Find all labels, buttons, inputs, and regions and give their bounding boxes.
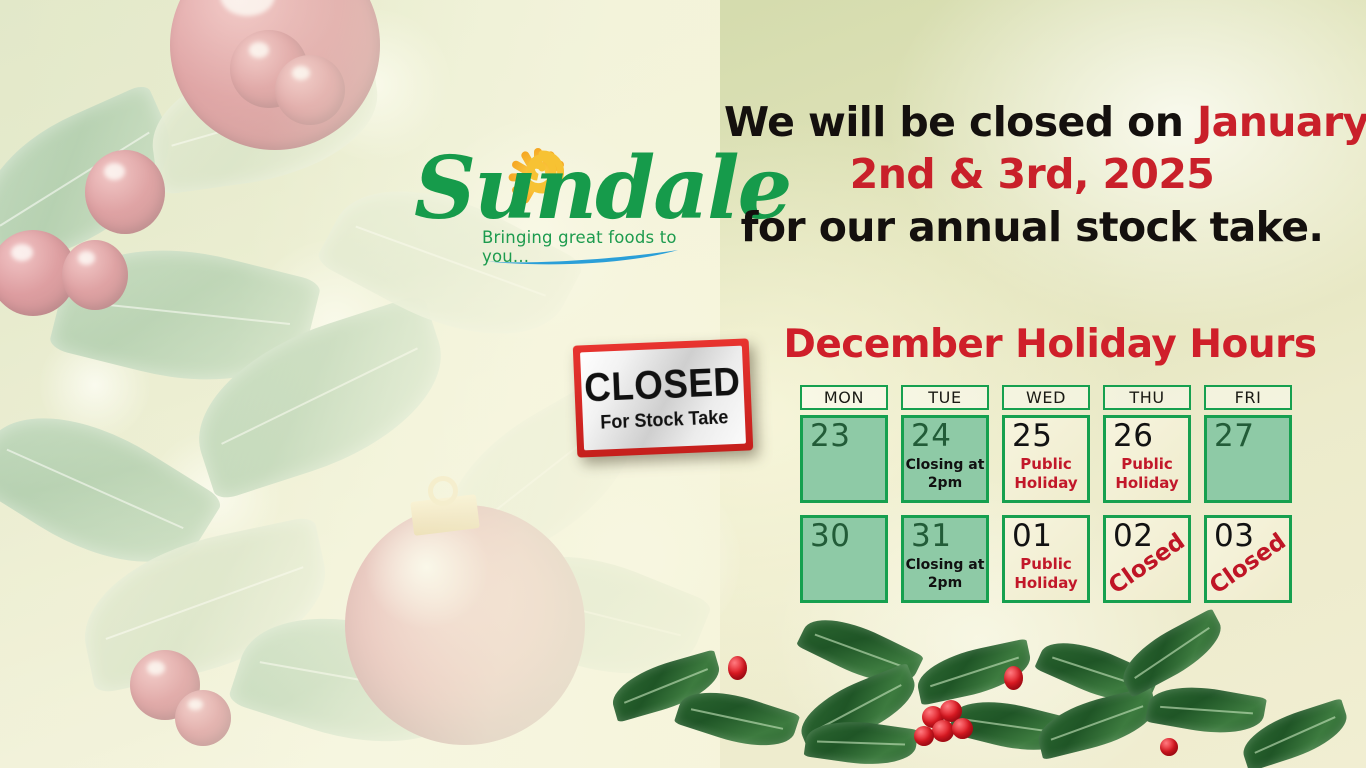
day-note: Closing at 2pm — [904, 457, 986, 493]
poster-canvas: Sundale Bringing great foods to you... W… — [0, 0, 1366, 768]
day-note: Public Holiday — [1005, 555, 1087, 593]
calendar-day-cell: 31 Closing at 2pm — [901, 515, 989, 603]
swoosh-icon — [482, 248, 682, 266]
ornament-bauble — [345, 505, 585, 745]
day-note: Closing at 2pm — [904, 557, 986, 593]
day-header-thu: THU — [1103, 385, 1191, 410]
day-number: 30 — [810, 519, 850, 553]
day-number: 27 — [1214, 419, 1254, 453]
closed-for-stock-take-sign: CLOSED For Stock Take — [573, 338, 754, 457]
calendar-title: December Holiday Hours — [770, 325, 1330, 364]
calendar-week-row: 30 31 Closing at 2pm 01 Public Holiday 0… — [800, 515, 1292, 603]
headline-line1-black: We will be closed on — [724, 98, 1183, 146]
ornament-cap — [410, 494, 480, 536]
calendar-day-cell: 01 Public Holiday — [1002, 515, 1090, 603]
day-header-fri: FRI — [1204, 385, 1292, 410]
sign-face: CLOSED For Stock Take — [580, 346, 746, 451]
ornament-hook — [426, 474, 459, 507]
day-note: Public Holiday — [1005, 455, 1087, 493]
day-header-tue: TUE — [901, 385, 989, 410]
headline-line1-red: January — [1197, 98, 1366, 146]
calendar-day-cell: 30 — [800, 515, 888, 603]
headline-line3: for our annual stock take. — [741, 203, 1324, 251]
day-note: Public Holiday — [1106, 455, 1188, 493]
calendar-day-cell: 03 Closed — [1204, 515, 1292, 603]
calendar-header-row: MON TUE WED THU FRI — [800, 385, 1292, 410]
headline: We will be closed on January 2nd & 3rd, … — [706, 96, 1358, 253]
calendar-day-cell: 26 Public Holiday — [1103, 415, 1191, 503]
day-number: 25 — [1012, 419, 1052, 453]
day-number: 01 — [1012, 519, 1052, 553]
day-number: 24 — [911, 419, 951, 453]
day-number: 26 — [1113, 419, 1153, 453]
holiday-hours-calendar: MON TUE WED THU FRI 23 24 Closing at 2pm… — [800, 385, 1292, 615]
sundale-logo: Sundale Bringing great foods to you... — [414, 128, 704, 278]
calendar-day-cell: 23 — [800, 415, 888, 503]
headline-line2: 2nd & 3rd, 2025 — [850, 150, 1214, 198]
sign-main-text: CLOSED — [584, 363, 742, 409]
sign-sub-text: For Stock Take — [600, 408, 729, 432]
calendar-day-cell: 25 Public Holiday — [1002, 415, 1090, 503]
calendar-day-cell: 02 Closed — [1103, 515, 1191, 603]
day-header-mon: MON — [800, 385, 888, 410]
logo-wordmark: Sundale — [414, 146, 704, 232]
holly-border — [600, 618, 1366, 768]
day-number: 23 — [810, 419, 850, 453]
sign-frame: CLOSED For Stock Take — [573, 338, 754, 457]
calendar-day-cell: 24 Closing at 2pm — [901, 415, 989, 503]
day-number: 31 — [911, 519, 951, 553]
calendar-day-cell: 27 — [1204, 415, 1292, 503]
day-header-wed: WED — [1002, 385, 1090, 410]
calendar-week-row: 23 24 Closing at 2pm 25 Public Holiday 2… — [800, 415, 1292, 503]
